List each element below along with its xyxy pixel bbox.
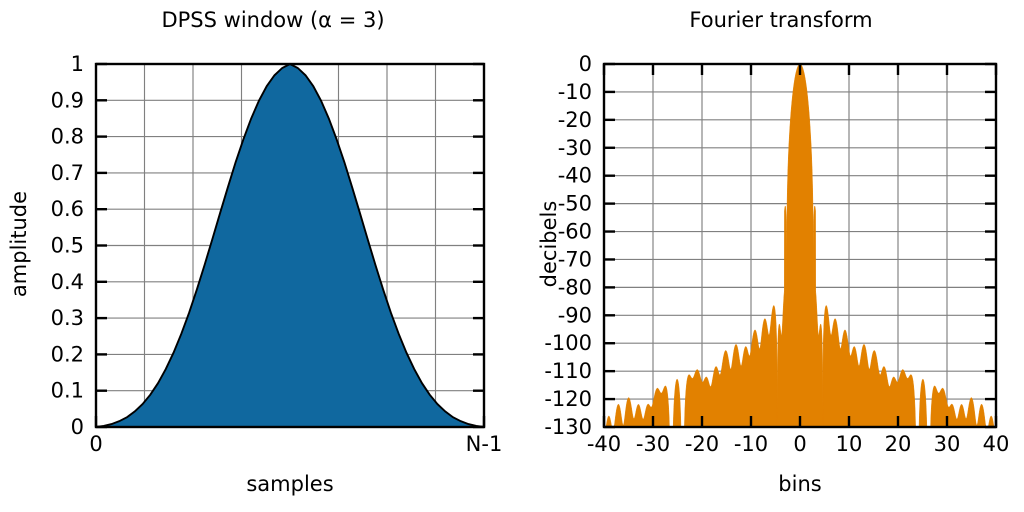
- y-tick-label: -30: [558, 136, 592, 160]
- y-tick-label: 0.1: [51, 379, 84, 403]
- x-tick-label: N-1: [466, 432, 503, 456]
- panel-fourier-transform: Fourier transform decibels bins 0-10-20-…: [512, 0, 1024, 512]
- y-tick-label: -130: [544, 415, 592, 439]
- x-tick-label: 0: [793, 432, 806, 456]
- plot-area-dpss: 00.10.20.30.40.50.60.70.80.910N-1: [0, 0, 512, 512]
- y-tick-label: 0.2: [51, 342, 84, 366]
- y-tick-label: -70: [558, 247, 592, 271]
- y-tick-label: 1: [71, 52, 84, 76]
- y-tick-label: -120: [544, 387, 592, 411]
- y-tick-label: -20: [558, 108, 592, 132]
- x-tick-label: -20: [685, 432, 719, 456]
- x-tick-label: -40: [587, 432, 621, 456]
- panel-dpss-window: DPSS window (α = 3) amplitude samples 00…: [0, 0, 512, 512]
- x-tick-label: 40: [983, 432, 1010, 456]
- y-tick-label: 0.4: [51, 270, 84, 294]
- x-tick-label: 20: [885, 432, 912, 456]
- x-tick-label: -30: [636, 432, 670, 456]
- y-tick-label: -10: [558, 80, 592, 104]
- y-tick-label: 0: [579, 52, 592, 76]
- y-tick-label: 0.9: [51, 88, 84, 112]
- spectrum-area-fill: [604, 64, 996, 427]
- figure: DPSS window (α = 3) amplitude samples 00…: [0, 0, 1024, 512]
- x-tick-label: 0: [89, 432, 102, 456]
- x-tick-label: 30: [934, 432, 961, 456]
- y-tick-label: 0.5: [51, 234, 84, 258]
- plot-area-fourier: 0-10-20-30-40-50-60-70-80-90-100-110-120…: [512, 0, 1024, 512]
- x-tick-label: 10: [836, 432, 863, 456]
- y-tick-label: 0.7: [51, 161, 84, 185]
- y-tick-label: 0.6: [51, 197, 84, 221]
- y-tick-label: -50: [558, 192, 592, 216]
- y-tick-label: -100: [544, 331, 592, 355]
- y-tick-label: 0.3: [51, 306, 84, 330]
- y-tick-label: -40: [558, 164, 592, 188]
- y-tick-label: -110: [544, 359, 592, 383]
- y-tick-label: 0.8: [51, 125, 84, 149]
- y-tick-label: 0: [71, 415, 84, 439]
- y-tick-label: -90: [558, 303, 592, 327]
- x-tick-label: -10: [734, 432, 768, 456]
- y-tick-label: -80: [558, 275, 592, 299]
- y-tick-label: -60: [558, 220, 592, 244]
